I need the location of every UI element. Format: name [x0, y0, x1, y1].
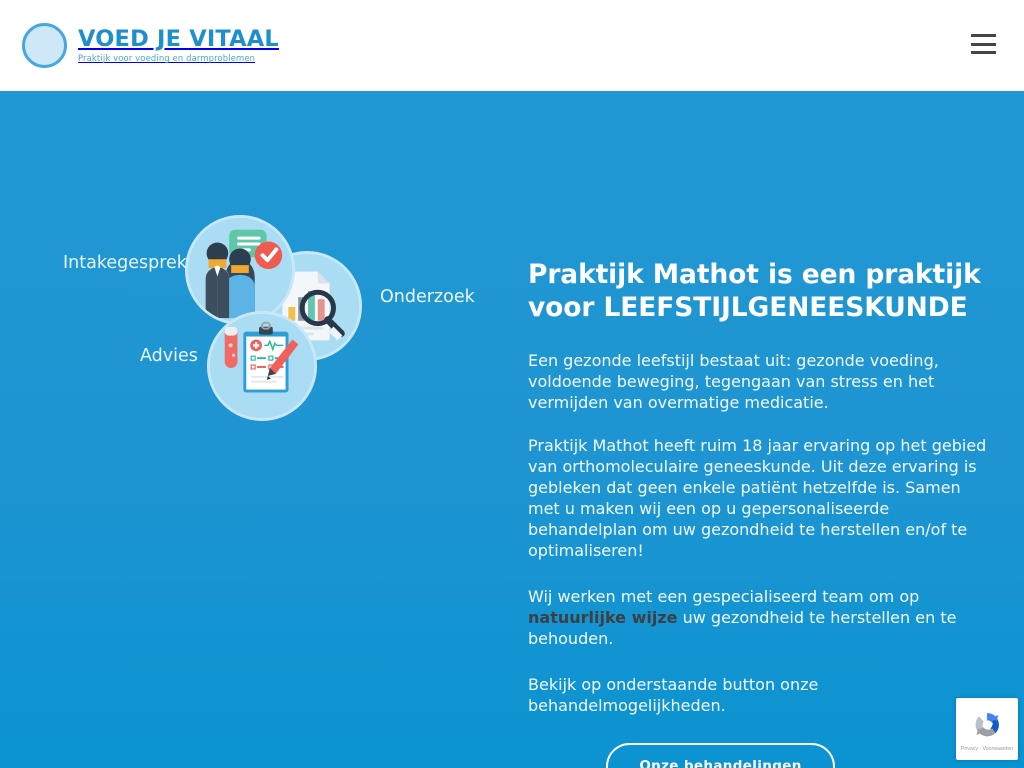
site-header: VOED JE VITAAL Praktijk voor voeding en …	[0, 0, 1024, 91]
hamburger-bar-1	[971, 34, 996, 37]
cta-wrapper: Onze behandelingen	[528, 717, 913, 768]
recaptcha-logo-icon	[971, 709, 1003, 741]
logo-tagline: Praktijk voor voeding en darmproblemen	[78, 53, 279, 63]
team-text-before: Wij werken met een gespecialiseerd team …	[528, 587, 919, 606]
logo-title: VOED JE VITAAL	[78, 28, 279, 52]
team-text-emphasis: natuurlijke wijze	[528, 608, 678, 627]
site-logo-link[interactable]: VOED JE VITAAL Praktijk voor voeding en …	[22, 23, 279, 68]
hero-paragraph-2: Praktijk Mathot heeft ruim 18 jaar ervar…	[528, 436, 994, 562]
hero-content: Praktijk Mathot is een praktijk voor LEE…	[528, 259, 994, 768]
page-root: VOED JE VITAAL Praktijk voor voeding en …	[0, 0, 1024, 768]
hamburger-bar-3	[971, 51, 996, 54]
bubble-advies	[207, 311, 317, 421]
recaptcha-badge[interactable]: Privacy - Voorwaarden	[956, 698, 1018, 760]
hero-paragraph-1: Een gezonde leefstijl bestaat uit: gezon…	[528, 351, 994, 414]
onze-behandelingen-button[interactable]: Onze behandelingen	[606, 743, 834, 768]
hero-paragraph-button-hint: Bekijk op onderstaande button onze behan…	[528, 675, 994, 717]
bubble-label-intakegesprek: Intakegesprek	[63, 253, 187, 273]
logo-text-block: VOED JE VITAAL Praktijk voor voeding en …	[78, 28, 279, 64]
hamburger-bar-2	[971, 43, 996, 46]
hamburger-menu-icon[interactable]	[968, 31, 998, 57]
bubble-label-onderzoek: Onderzoek	[380, 287, 475, 307]
bubble-label-advies: Advies	[140, 346, 198, 366]
page-title: Praktijk Mathot is een praktijk voor LEE…	[528, 259, 994, 324]
hero-section: Intakegesprek Onderzoek Advies Praktijk …	[0, 91, 1024, 768]
recaptcha-links[interactable]: Privacy - Voorwaarden	[961, 746, 1013, 752]
process-illustration: Intakegesprek Onderzoek Advies	[40, 206, 470, 436]
hero-paragraph-team: Wij werken met een gespecialiseerd team …	[528, 587, 994, 650]
bubble-intakegesprek	[185, 215, 295, 325]
people-chat-approved-icon	[186, 216, 294, 324]
circle-logo-icon	[22, 23, 67, 68]
clipboard-testtube-pen-icon	[208, 312, 316, 420]
